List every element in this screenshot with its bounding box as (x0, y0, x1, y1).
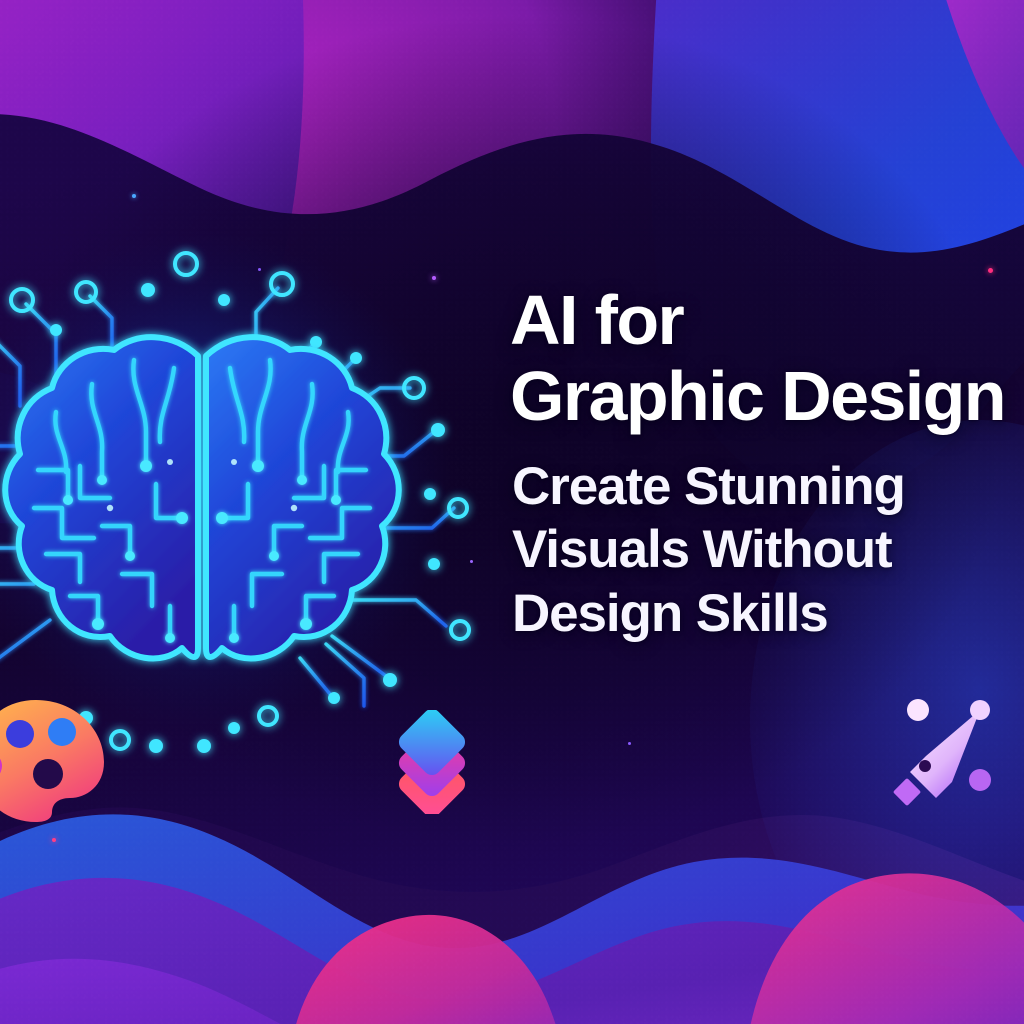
promo-banner: AI for Graphic Design Create Stunning Vi… (0, 0, 1024, 1024)
page-title: AI for Graphic Design (510, 282, 1024, 435)
subtitle: Create Stunning Visuals Without Design S… (512, 455, 1024, 646)
copy-block: AI for Graphic Design Create Stunning Vi… (510, 282, 1024, 645)
